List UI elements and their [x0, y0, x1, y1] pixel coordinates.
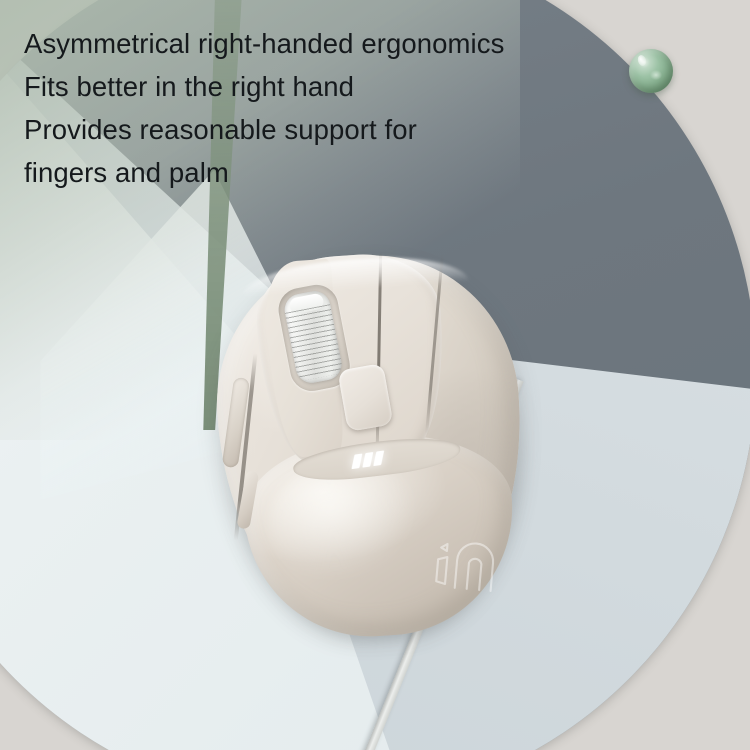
caption-line-1: Asymmetrical right-handed ergonomics: [24, 22, 674, 65]
led-segment-1: [351, 453, 362, 469]
caption-line-3: Provides reasonable support for: [24, 108, 674, 151]
product-image-canvas: Asymmetrical right-handed ergonomics Fit…: [0, 0, 750, 750]
led-segment-2: [362, 452, 373, 468]
caption-line-4: fingers and palm: [24, 151, 674, 194]
wireless-mouse: [200, 237, 547, 658]
led-segment-3: [373, 450, 384, 466]
inphic-logo-icon: [420, 529, 502, 605]
caption-block: Asymmetrical right-handed ergonomics Fit…: [24, 22, 674, 194]
caption-line-2: Fits better in the right hand: [24, 65, 674, 108]
